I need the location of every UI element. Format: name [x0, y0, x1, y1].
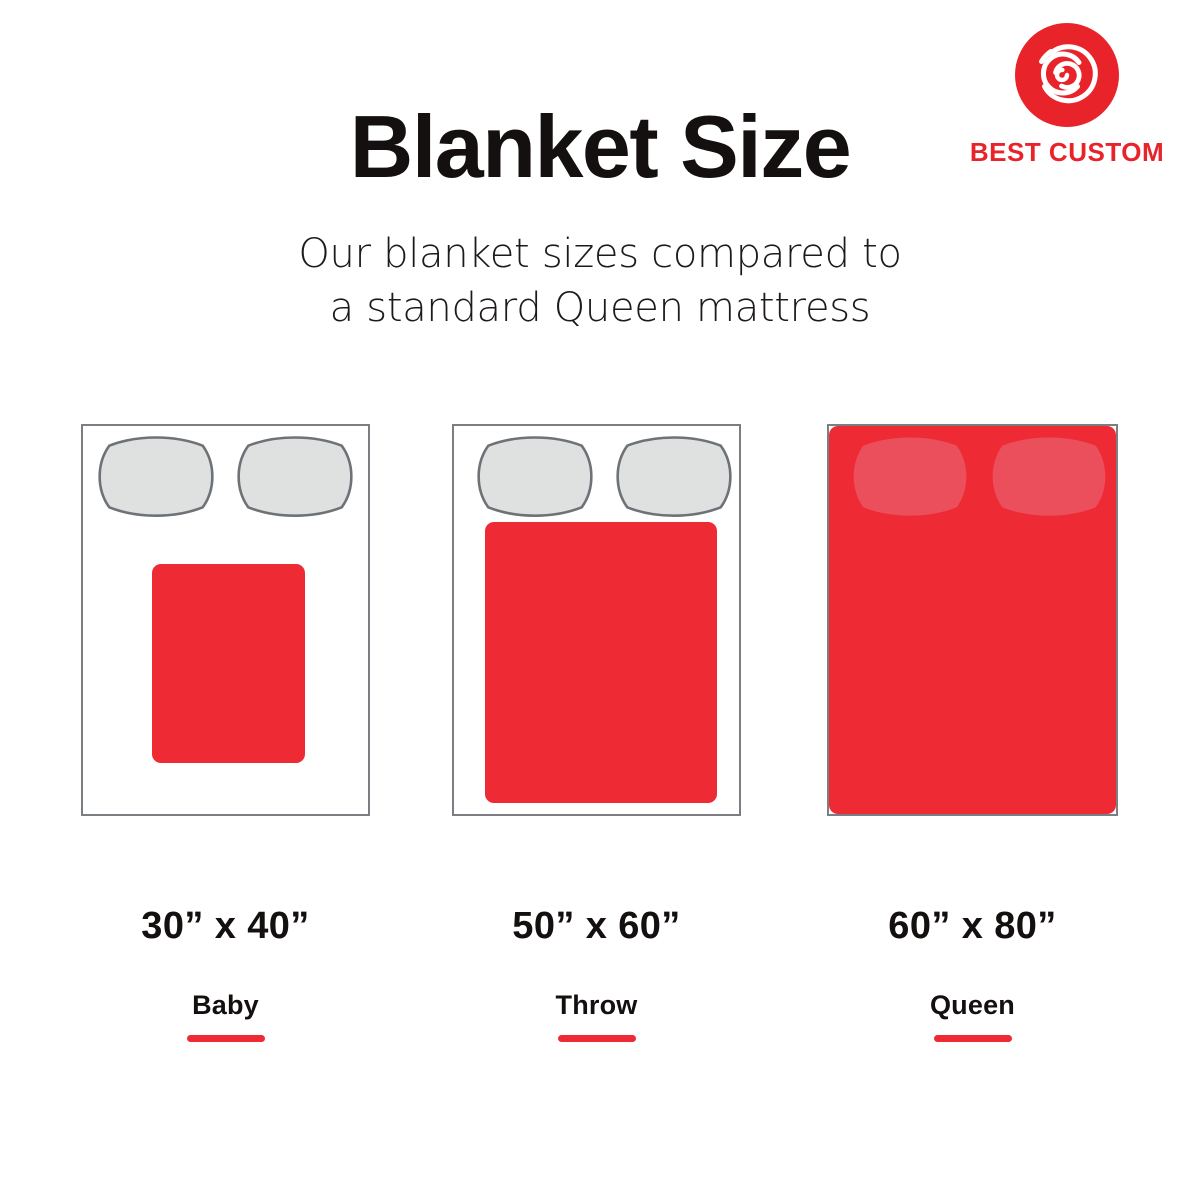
bed-size-name: Baby: [81, 990, 370, 1021]
pillow-2: [239, 437, 352, 515]
bed-caption-queen: 60” x 80”Queen: [827, 905, 1118, 1042]
blanket-shape: [152, 564, 305, 763]
caption-underline: [934, 1035, 1012, 1042]
page-subtitle-line-1: Our blanket sizes compared to: [0, 228, 1200, 282]
caption-underline: [187, 1035, 265, 1042]
bed-figure-queen: [827, 424, 1118, 816]
bed-size-name: Throw: [452, 990, 741, 1021]
pillow-2: [618, 437, 731, 515]
bed-dimensions-label: 60” x 80”: [827, 905, 1118, 948]
blanket-shape: [485, 522, 717, 803]
pillow-1: [854, 437, 967, 515]
page-subtitle: Our blanket sizes compared to a standard…: [0, 228, 1200, 335]
infographic-canvas: BEST CUSTOM Blanket Size Our blanket siz…: [0, 0, 1200, 1200]
bed-size-name: Queen: [827, 990, 1118, 1021]
pillow-2: [993, 437, 1106, 515]
bed-caption-throw: 50” x 60”Throw: [452, 905, 741, 1042]
bed-figure-baby: [81, 424, 370, 816]
bed-illustration: [827, 424, 1118, 816]
bed-caption-baby: 30” x 40”Baby: [81, 905, 370, 1042]
caption-underline: [558, 1035, 636, 1042]
bed-figure-throw: [452, 424, 741, 816]
bed-dimensions-label: 50” x 60”: [452, 905, 741, 948]
bed-dimensions-label: 30” x 40”: [81, 905, 370, 948]
page-title: Blanket Size: [0, 103, 1200, 191]
bed-illustration: [81, 424, 370, 816]
pillow-1: [479, 437, 592, 515]
pillow-1: [100, 437, 213, 515]
bed-comparison-row: [0, 424, 1200, 816]
bed-illustration: [452, 424, 741, 816]
page-subtitle-line-2: a standard Queen mattress: [0, 282, 1200, 336]
